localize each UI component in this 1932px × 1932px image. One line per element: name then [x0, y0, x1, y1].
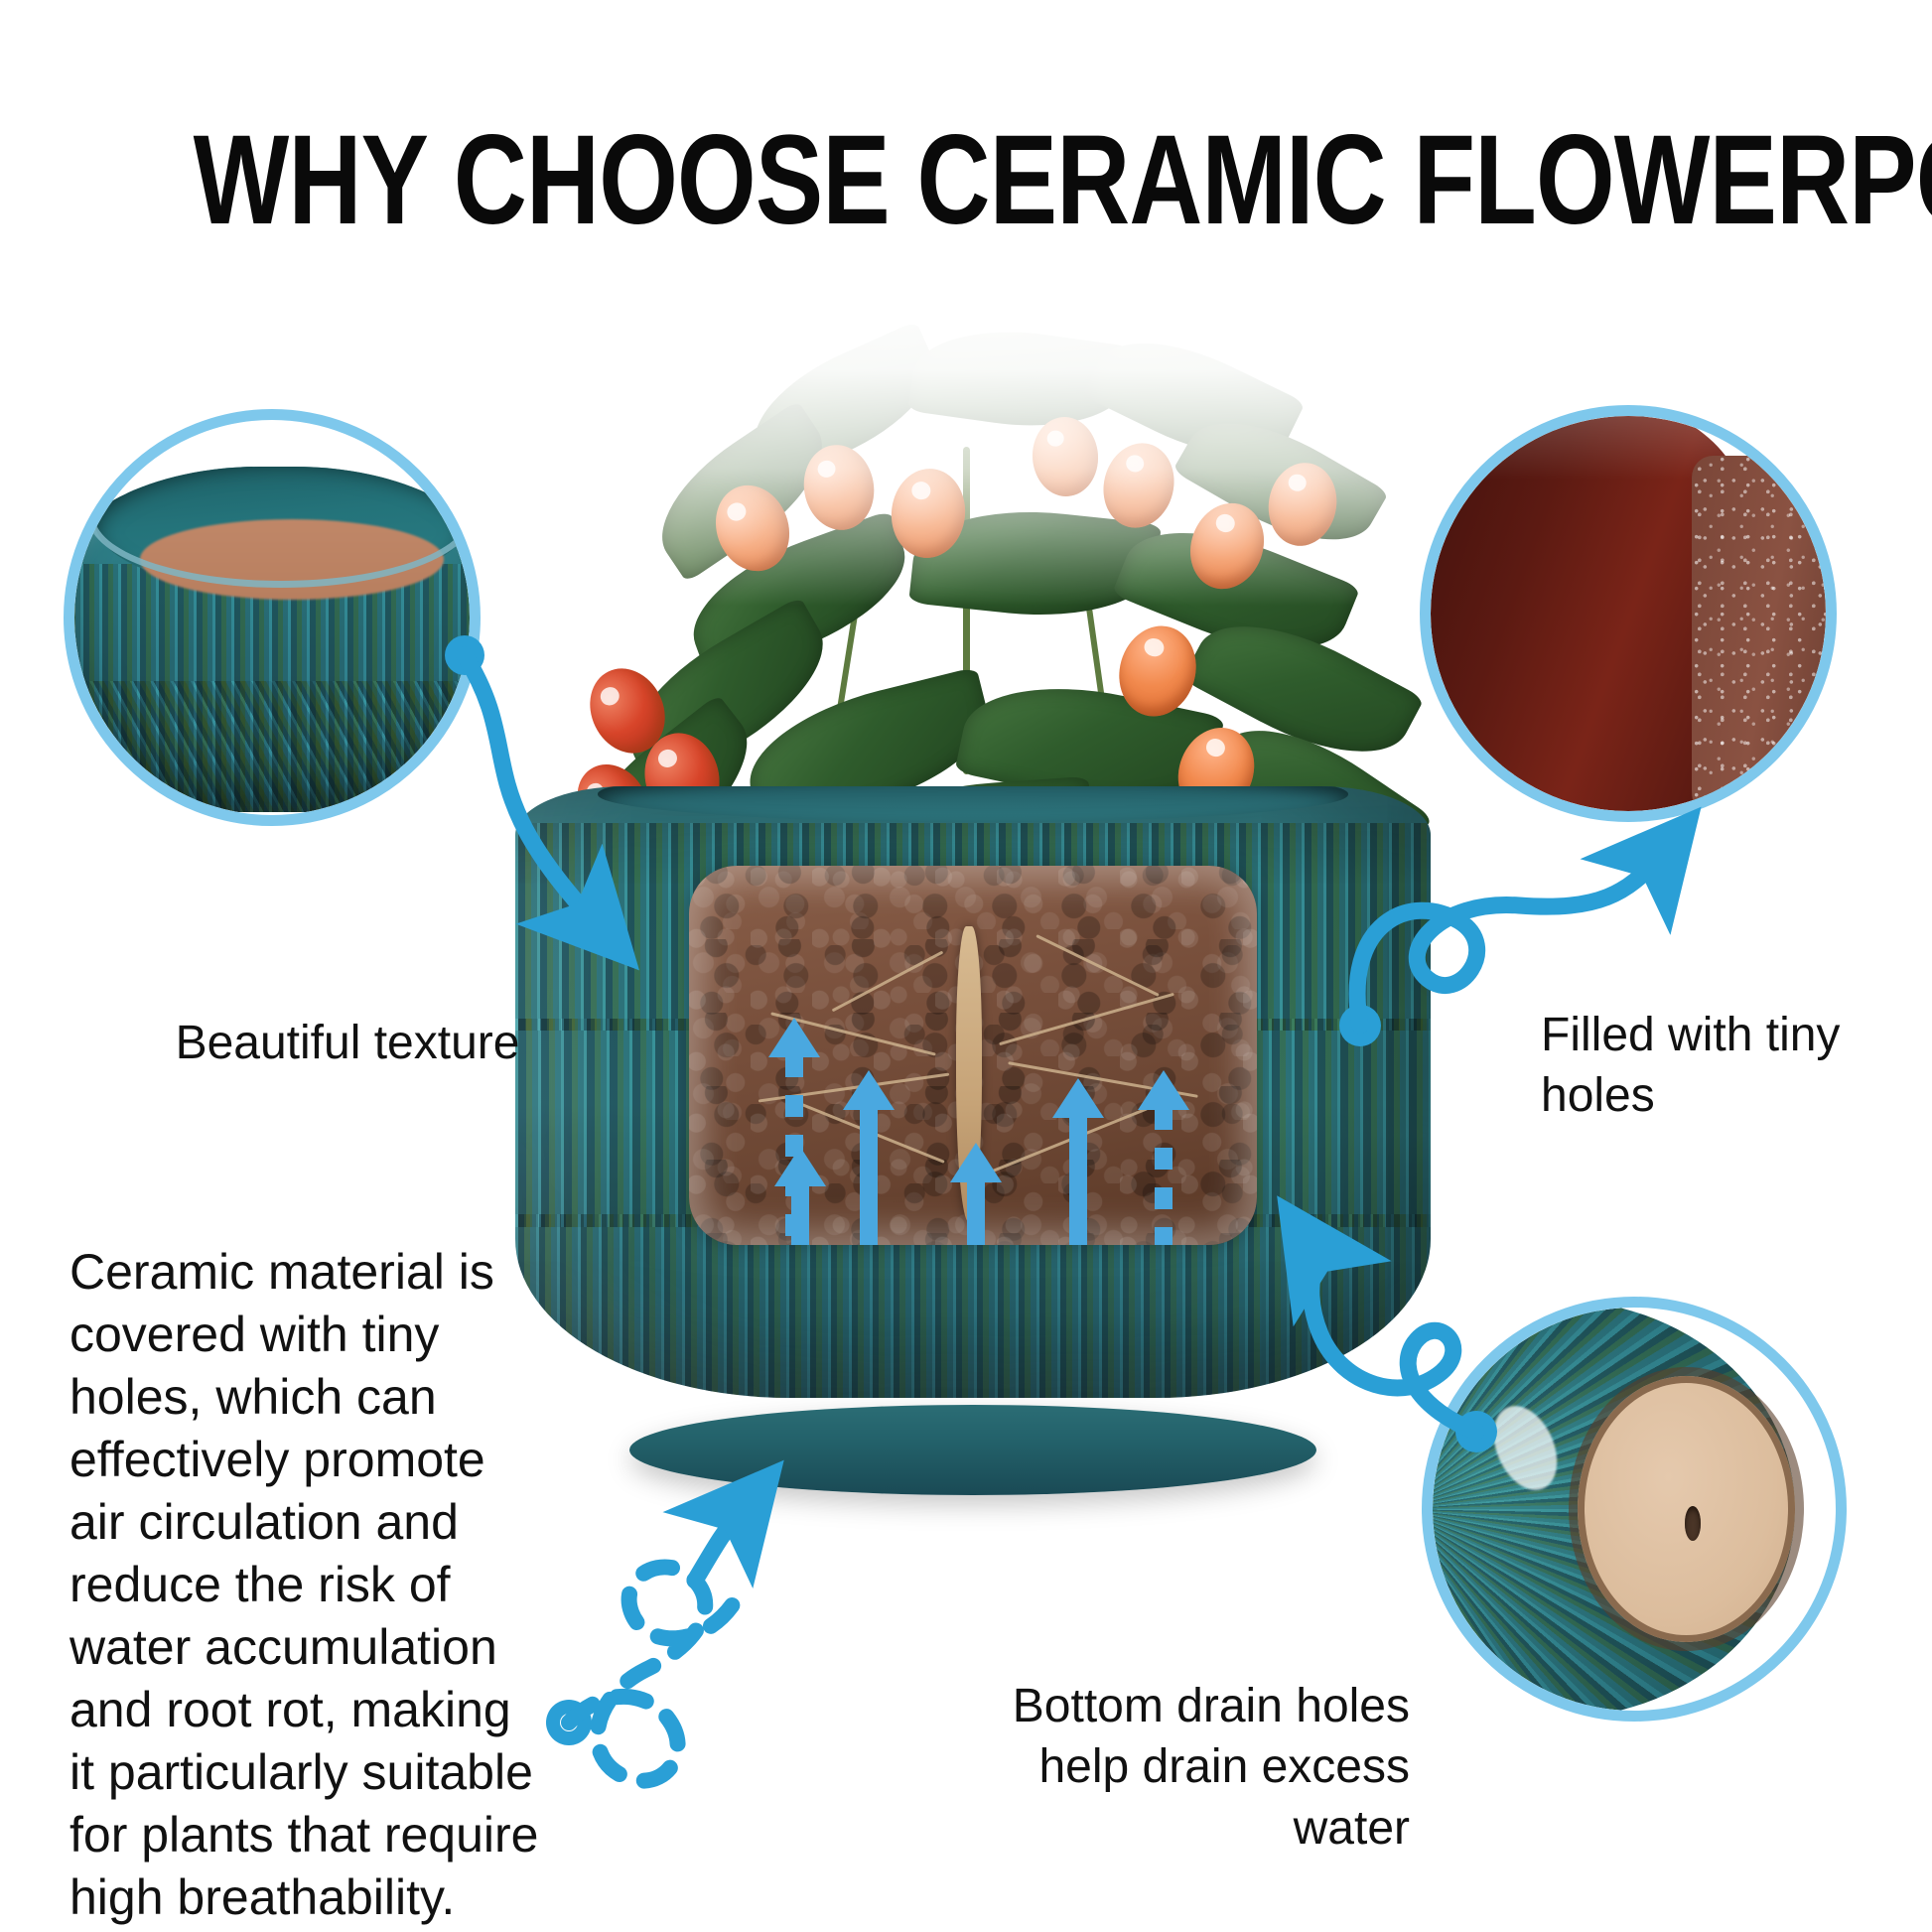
- label-beautiful-texture: Beautiful texture: [139, 1013, 556, 1074]
- ceramic-pot-rim-closeup: [74, 467, 470, 812]
- paragraph-breathability: Ceramic material is covered with tiny ho…: [69, 1241, 546, 1929]
- pot-foot: [629, 1405, 1315, 1495]
- airflow-arrow-solid-4: [1052, 1078, 1104, 1245]
- soil-and-root-cutaway: [689, 866, 1256, 1245]
- pot-body: [515, 786, 1431, 1398]
- airflow-arrow-solid-2: [774, 1147, 826, 1245]
- airflow-arrow-solid-1: [843, 1070, 895, 1245]
- airflow-arrow-solid-3: [950, 1143, 1002, 1245]
- callout-circle-tiny-holes: [1420, 405, 1837, 822]
- infographic-canvas: WHY CHOOSE CERAMIC FLOWERPOTS: [0, 0, 1932, 1932]
- airflow-arrow-dashed-right: [1138, 1070, 1189, 1245]
- drain-hole: [1685, 1506, 1701, 1541]
- product-image: [496, 298, 1449, 1588]
- porous-clay-edge: [1692, 456, 1826, 811]
- callout-circle-drain: [1422, 1297, 1847, 1722]
- label-filled-with-tiny-holes: Filled with tiny holes: [1541, 1005, 1932, 1127]
- label-bottom-drain-holes: Bottom drain holes help drain excess wat…: [993, 1676, 1410, 1859]
- ribbed-teal-ceramic-flowerpot: [496, 786, 1449, 1481]
- page-title: WHY CHOOSE CERAMIC FLOWERPOTS: [194, 117, 1739, 244]
- unglazed-foot-ring: [1578, 1376, 1795, 1642]
- callout-circle-texture: [64, 409, 481, 826]
- pot-rim: [598, 786, 1348, 822]
